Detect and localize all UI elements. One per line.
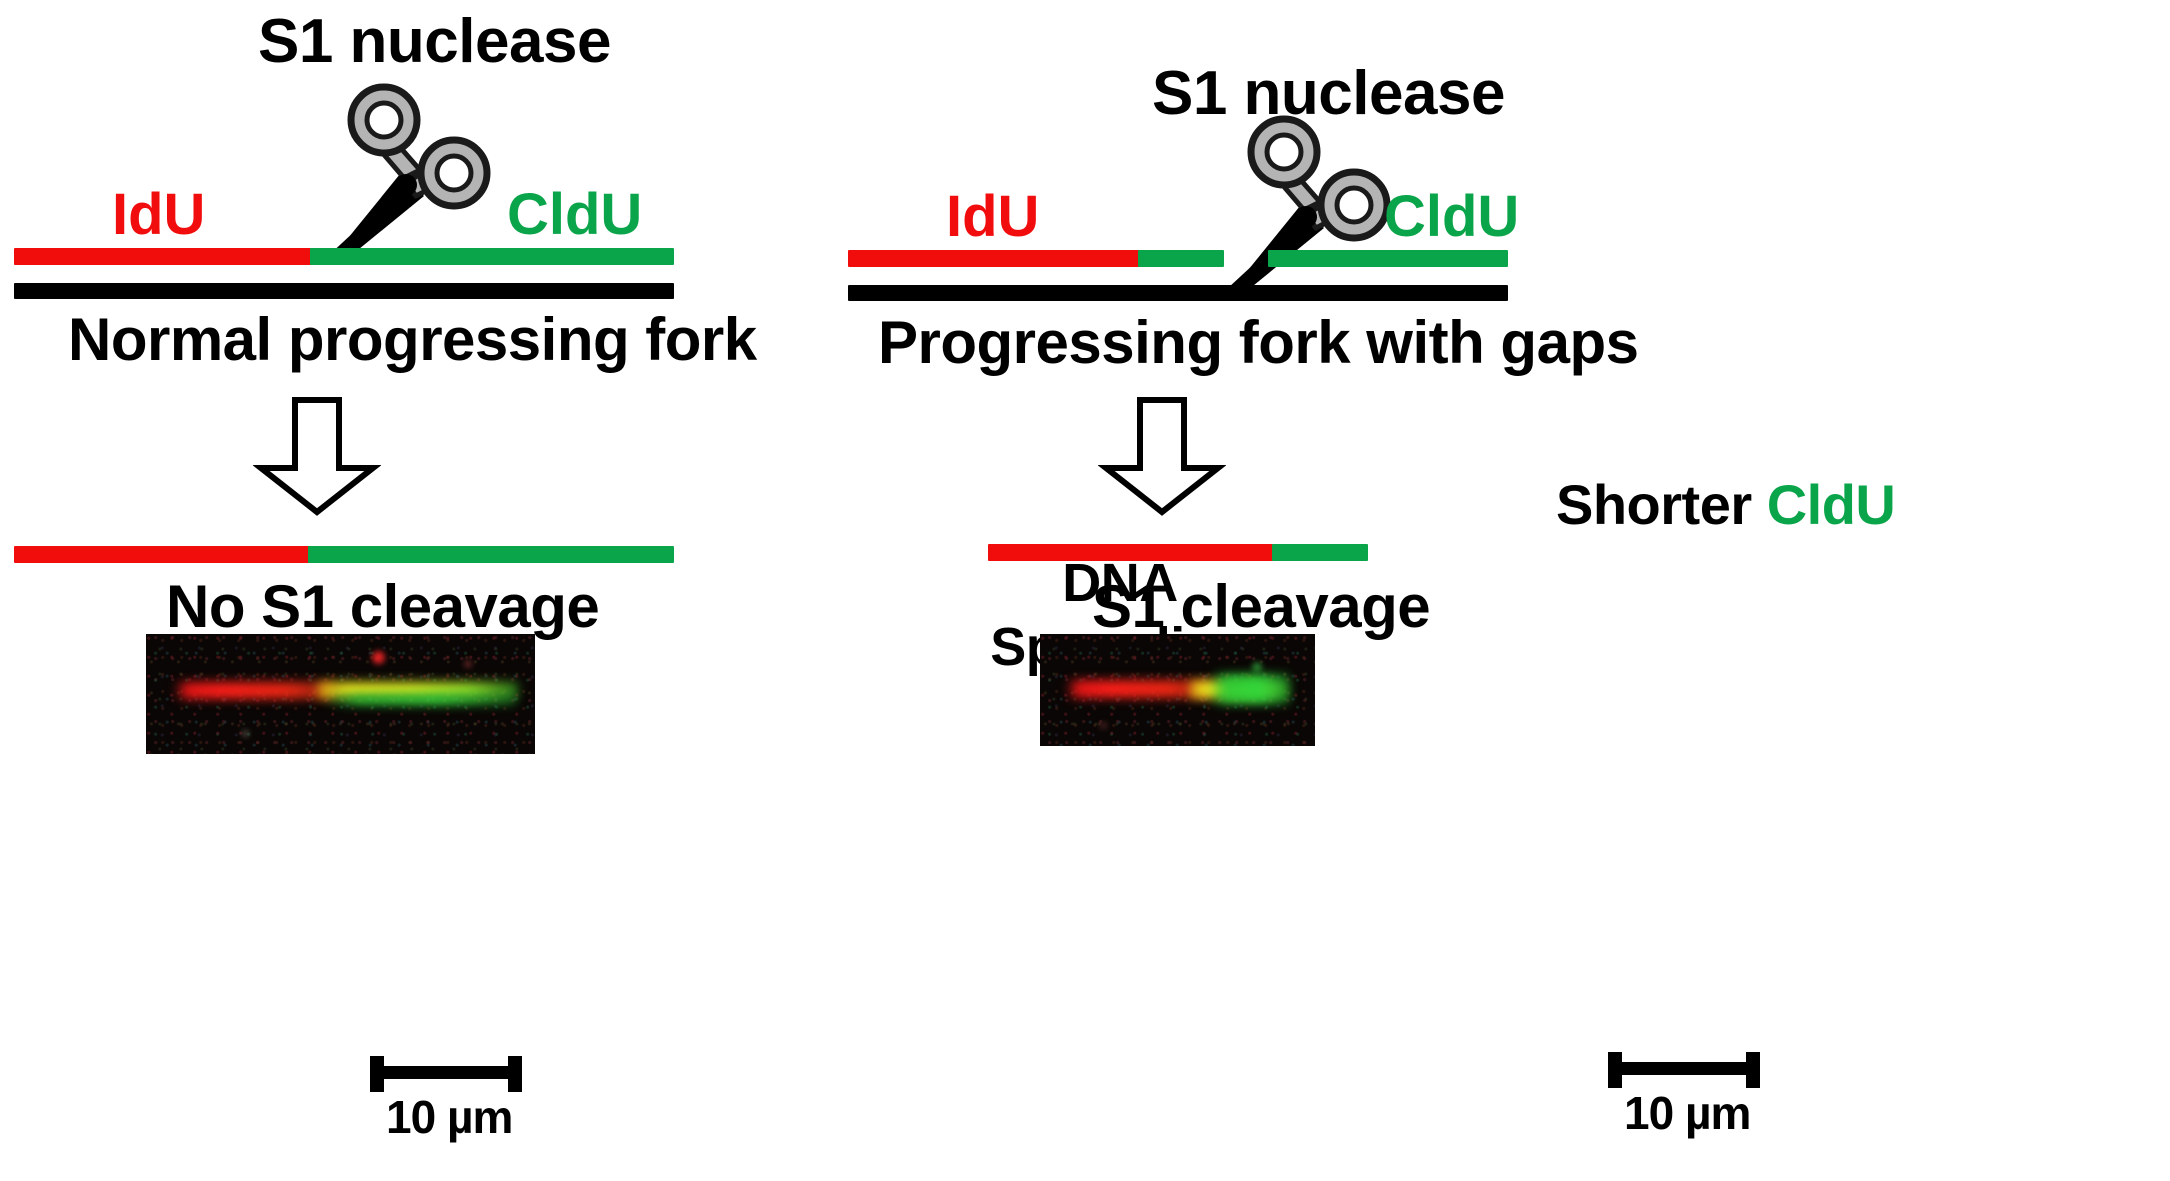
right-top-cldu-segment-left xyxy=(1138,250,1224,267)
figure-canvas: S1 nuclease IdU xyxy=(0,0,2170,1181)
right-top-idu-segment xyxy=(848,250,1142,267)
right-fork-label: Progressing fork with gaps xyxy=(878,308,1638,377)
scale-bar-cap-right xyxy=(1746,1052,1760,1088)
right-shorter-cldu-label: Shorter CldU xyxy=(1556,472,1895,537)
micrograph-cldu-green-edge xyxy=(1210,674,1290,704)
right-scale-label: 10 µm xyxy=(1624,1086,1750,1140)
right-cldu-label: CldU xyxy=(1384,183,1519,250)
scale-bar-line xyxy=(1608,1062,1760,1075)
down-arrow-icon xyxy=(1098,396,1226,516)
right-panel: S1 nuclease IdU CldU Progressing fork w xyxy=(0,0,2170,1181)
right-template-strand xyxy=(848,285,1508,301)
right-top-cldu-segment-right xyxy=(1268,250,1508,267)
shorter-prefix-text: Shorter xyxy=(1556,473,1767,536)
right-dna-fiber-micrograph xyxy=(1040,634,1315,746)
right-outcome-label: S1 cleavage xyxy=(1092,572,1430,641)
scissors-icon xyxy=(1196,110,1396,295)
right-bottom-idu-segment xyxy=(988,544,1276,561)
shorter-cldu-highlight: CldU xyxy=(1767,473,1896,536)
micrograph-speck xyxy=(1100,722,1107,729)
right-bottom-cldu-segment xyxy=(1272,544,1368,561)
micrograph-speck xyxy=(1252,662,1262,672)
right-scale-bar xyxy=(1608,1052,1760,1088)
scale-bar-cap-left xyxy=(1608,1052,1622,1088)
right-idu-label: IdU xyxy=(946,183,1039,250)
